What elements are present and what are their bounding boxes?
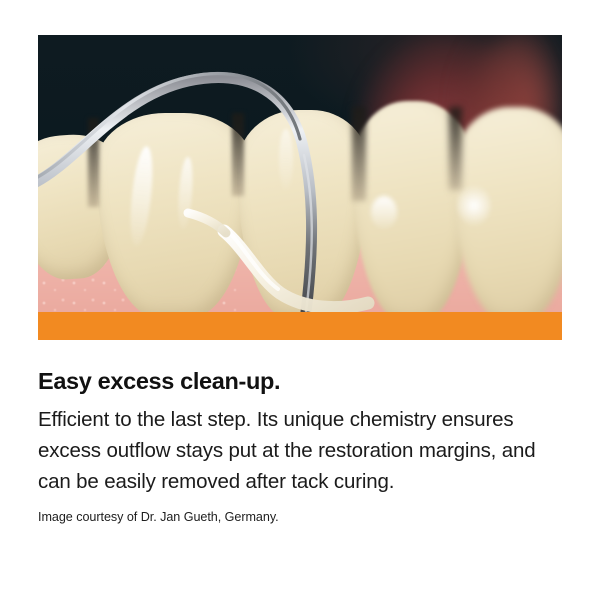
body-paragraph: Efficient to the last step. Its unique c… xyxy=(38,404,558,497)
text-content: Easy excess clean-up. Efficient to the l… xyxy=(38,366,562,525)
composite-excess-strand xyxy=(38,35,562,312)
product-feature-card: Easy excess clean-up. Efficient to the l… xyxy=(0,0,600,600)
image-credit-caption: Image courtesy of Dr. Jan Gueth, Germany… xyxy=(38,509,562,525)
page-title: Easy excess clean-up. xyxy=(38,366,562,396)
orange-accent-bar xyxy=(38,312,562,340)
clinical-photo xyxy=(38,35,562,312)
clinical-photo-canvas xyxy=(38,35,562,312)
